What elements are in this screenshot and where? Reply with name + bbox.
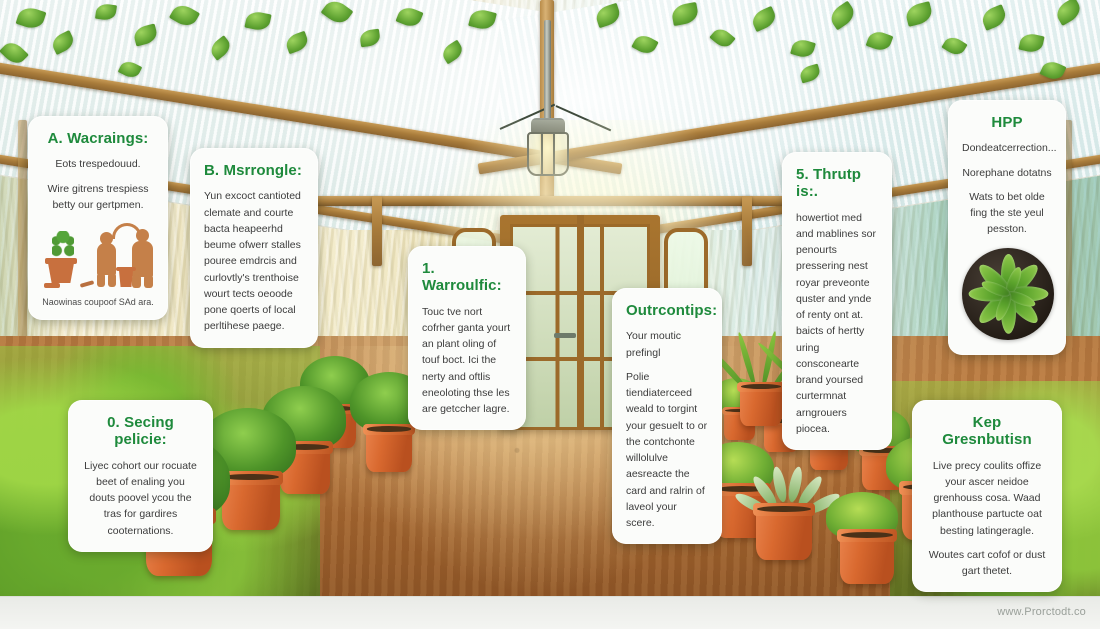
card-morrongle-para-0: Yun excoct cantioted clemate and courte … — [204, 188, 304, 334]
card-warnings-para-0: Eots trespedouud. — [42, 156, 154, 172]
figure-one-leg-left — [97, 273, 105, 287]
card-thrutp-title: 5. Thrutp is:. — [796, 166, 878, 201]
figure-one-body — [97, 243, 116, 275]
card-outrcontips-para-0: Your moutic prefingl — [626, 328, 708, 361]
card-outrcontips[interactable]: Outrcontips: Your moutic prefingl Polie … — [612, 288, 722, 544]
card-kep-para-0: Live precy coulits offize your ascer nei… — [926, 458, 1048, 539]
card-hpp-para-2: Wats to bet olde fing the ste yeul pesst… — [962, 189, 1052, 238]
support-post-right — [742, 196, 752, 266]
card-thrutp-para-0: howertiot med and mablines sor penourts … — [796, 210, 878, 438]
support-post-left — [372, 196, 382, 266]
card-morrongle[interactable]: B. Msrrongle: Yun excoct cantioted clema… — [190, 148, 318, 348]
card-hpp-para-1: Norephane dotatns — [962, 165, 1052, 181]
card-warnings-caption: Naowinas coupoof SAd ara. — [42, 297, 154, 307]
infographic-canvas: www.Prorctodt.co A. Wacraings: Eots tres… — [0, 0, 1100, 629]
card-kep[interactable]: Kep Gresnbutisn Live precy coulits offiz… — [912, 400, 1062, 592]
gardening-people-illustration — [42, 221, 154, 289]
pot-body-shape — [48, 263, 74, 283]
card-outrcontips-title: Outrcontips: — [626, 302, 708, 319]
card-outrcontips-para-1: Polie tiendiaterceed weald to torgint yo… — [626, 369, 708, 532]
hanging-lamp-icon — [527, 132, 569, 176]
footer-bar: www.Prorctodt.co — [0, 596, 1100, 629]
card-warnings-para-1: Wire gitrens trespiess betty our gertpme… — [42, 181, 154, 214]
potted-plant-icon — [52, 231, 74, 259]
card-hpp-para-0: Dondeatcerrection... — [962, 140, 1052, 156]
card-warroulfic[interactable]: 1. Warroulfic: Touc tve nort cofrher gan… — [408, 246, 526, 430]
bucket-icon — [118, 270, 134, 287]
card-hpp[interactable]: HPP Dondeatcerrection... Norephane dotat… — [948, 100, 1066, 355]
figure-two-body — [132, 241, 153, 277]
card-secing-para-0: Liyec cohort our rocuate beet of enaling… — [82, 458, 199, 539]
card-kep-title: Kep Gresnbutisn — [926, 414, 1048, 449]
door-handle — [554, 333, 576, 338]
figure-two-leg-right — [144, 275, 153, 288]
card-thrutp[interactable]: 5. Thrutp is:. howertiot med and mabline… — [782, 152, 892, 450]
lamp-rod — [544, 20, 551, 125]
card-morrongle-title: B. Msrrongle: — [204, 162, 304, 179]
card-kep-para-1: Woutes cart cofof or dust gart thetet. — [926, 547, 1048, 580]
card-warnings-title: A. Wacraings: — [42, 130, 154, 147]
card-warnings[interactable]: A. Wacraings: Eots trespedouud. Wire git… — [28, 116, 168, 320]
figure-one-leg-right — [108, 273, 116, 287]
watermark-text: www.Prorctodt.co — [997, 606, 1086, 618]
leaf-rosette-photo — [962, 248, 1054, 340]
pot-saucer-shape — [44, 283, 60, 288]
card-secing[interactable]: 0. Secing pelicie: Liyec cohort our rocu… — [68, 400, 213, 552]
card-hpp-title: HPP — [962, 114, 1052, 131]
door-center-mullion — [577, 215, 584, 430]
card-secing-title: 0. Secing pelicie: — [82, 414, 199, 449]
card-warroulfic-title: 1. Warroulfic: — [422, 260, 512, 295]
card-warroulfic-para-0: Touc tve nort cofrher ganta yourt an pla… — [422, 304, 512, 418]
trowel-icon — [80, 280, 95, 288]
figure-two-leg-left — [132, 275, 141, 288]
